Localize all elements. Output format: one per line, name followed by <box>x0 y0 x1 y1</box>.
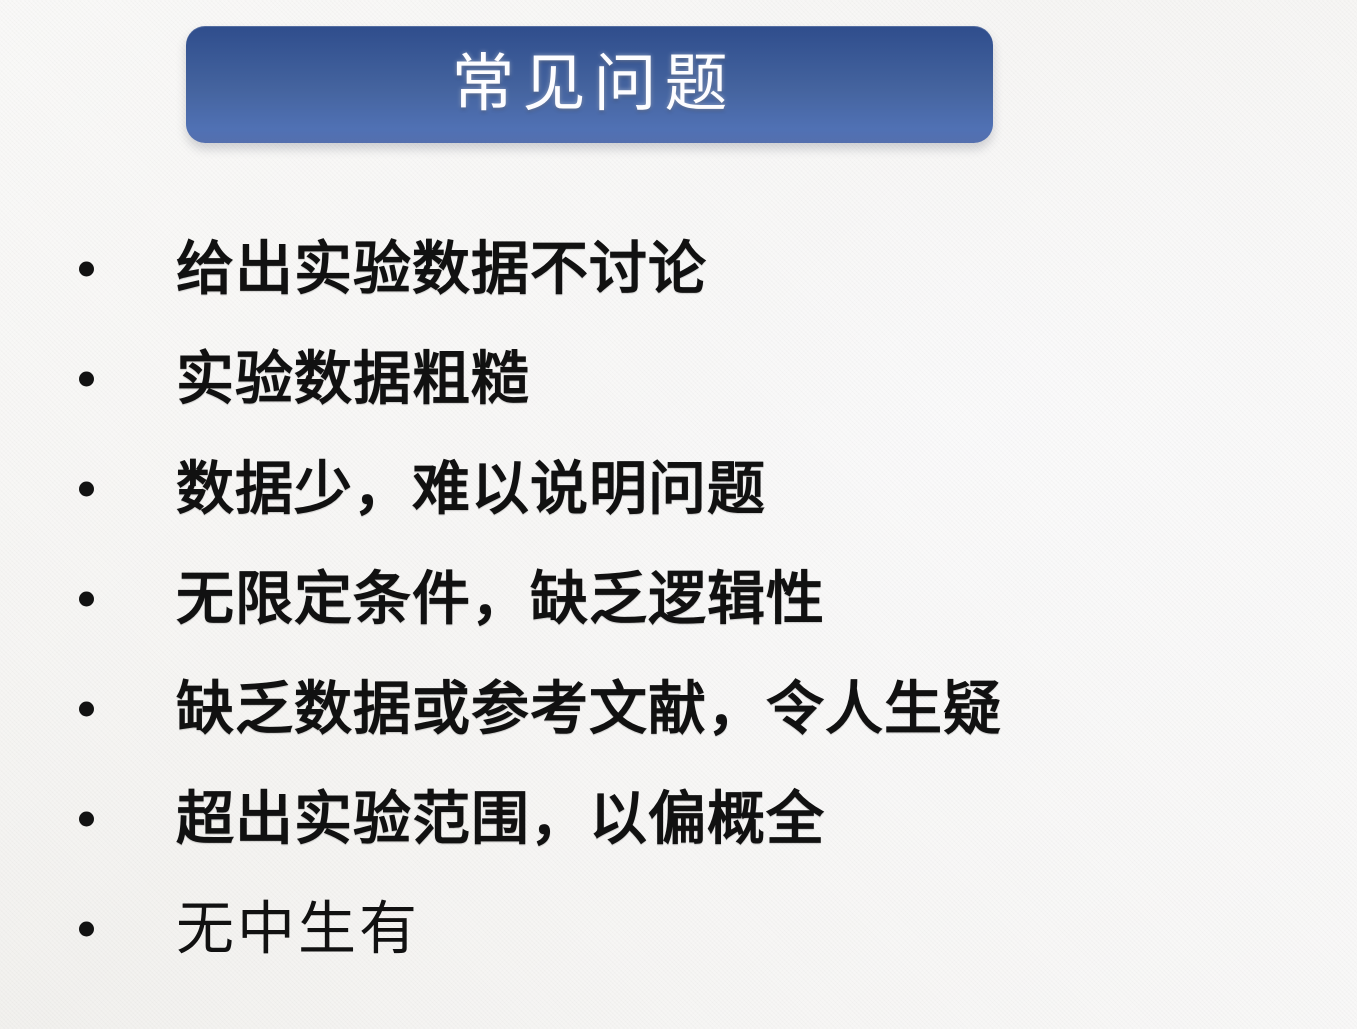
bullet-list: 给出实验数据不讨论 实验数据粗糙 数据少，难以说明问题 无限定条件，缺乏逻辑性 … <box>0 214 1357 984</box>
bullet-dot-icon <box>79 922 94 937</box>
list-item: 数据少，难以说明问题 <box>0 434 1357 544</box>
list-item: 缺乏数据或参考文献，令人生疑 <box>0 654 1357 764</box>
list-item: 给出实验数据不讨论 <box>0 214 1357 324</box>
page-title: 常见问题 <box>444 53 736 116</box>
slide-title-plaque: 常见问题 <box>186 26 993 143</box>
list-item: 实验数据粗糙 <box>0 324 1357 434</box>
list-item: 无中生有 <box>0 874 1357 984</box>
list-item: 无限定条件，缺乏逻辑性 <box>0 544 1357 654</box>
bullet-dot-icon <box>79 812 94 827</box>
bullet-item-label: 无中生有 <box>176 898 420 959</box>
bullet-dot-icon <box>79 372 94 387</box>
bullet-dot-icon <box>79 262 94 277</box>
slide-canvas: 常见问题 给出实验数据不讨论 实验数据粗糙 数据少，难以说明问题 无限定条件，缺… <box>0 0 1357 1029</box>
bullet-item-label: 数据少，难以说明问题 <box>176 458 766 519</box>
bullet-item-label: 无限定条件，缺乏逻辑性 <box>176 568 825 629</box>
bullet-dot-icon <box>79 592 94 607</box>
bullet-item-label: 实验数据粗糙 <box>176 348 530 409</box>
bullet-item-label: 超出实验范围，以偏概全 <box>176 788 825 849</box>
list-item: 超出实验范围，以偏概全 <box>0 764 1357 874</box>
bullet-item-label: 给出实验数据不讨论 <box>176 238 707 299</box>
bullet-item-label: 缺乏数据或参考文献，令人生疑 <box>176 678 1002 739</box>
bullet-dot-icon <box>79 482 94 497</box>
bullet-dot-icon <box>79 702 94 717</box>
